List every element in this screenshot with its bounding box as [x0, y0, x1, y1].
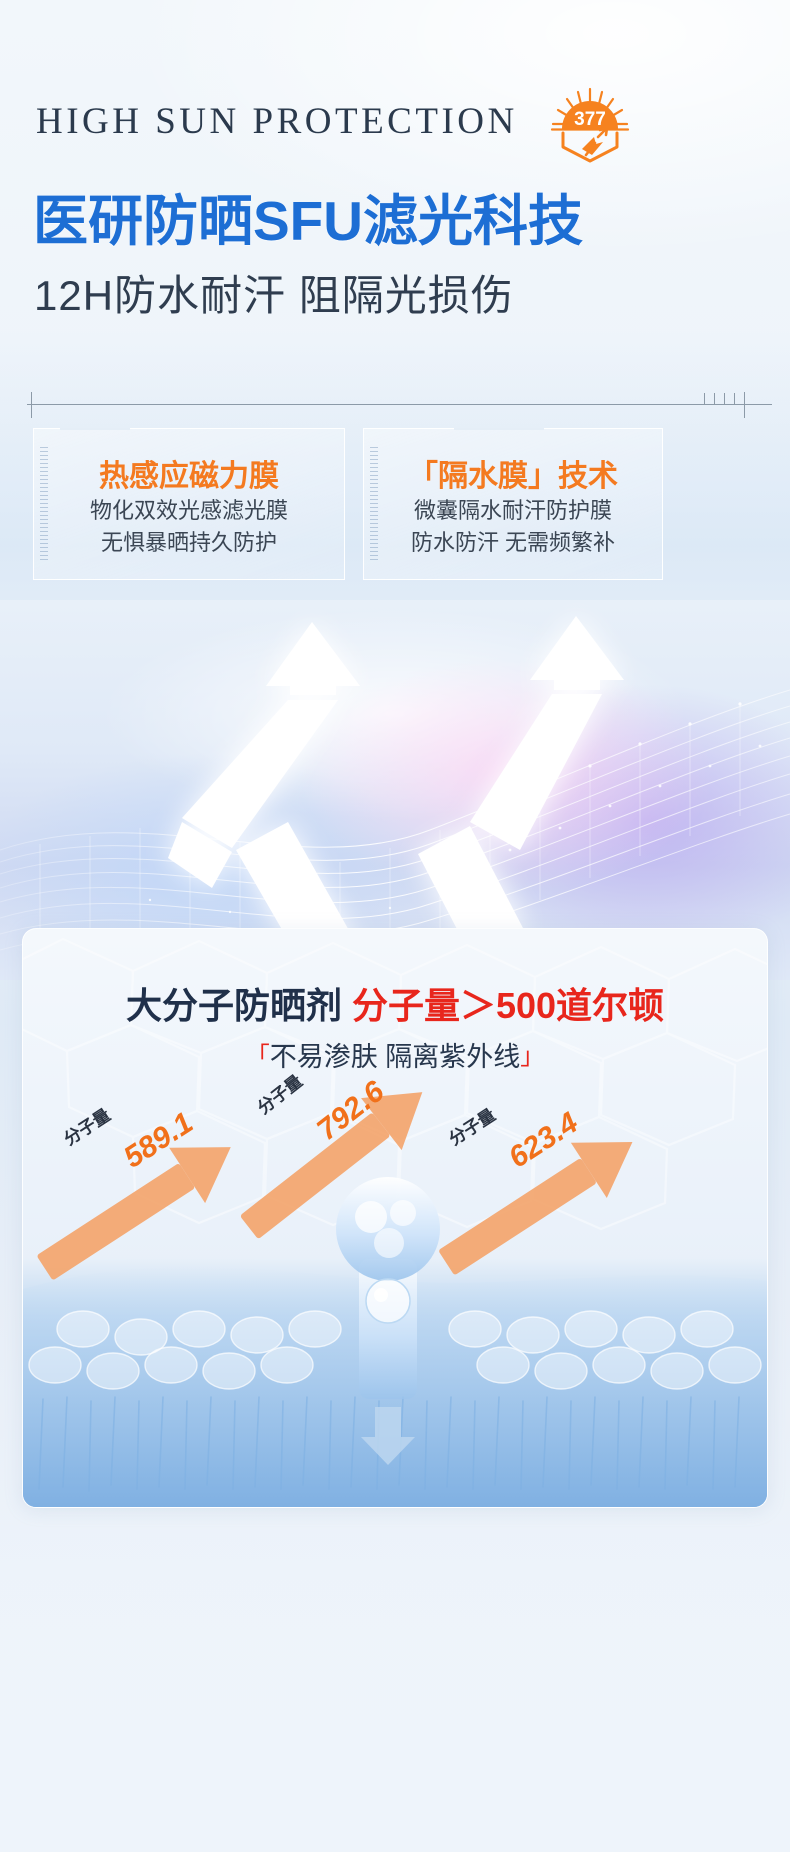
feature-card-line1: 物化双效光感滤光膜 — [34, 495, 344, 527]
badge-value-text: 377 — [574, 109, 606, 130]
sun-377-badge-icon: 377 — [548, 85, 632, 165]
feature-card-line2: 无惧暴晒持久防护 — [34, 527, 344, 559]
divider-tick-minor — [704, 393, 705, 405]
feature-card-water-barrier-film: 「隔水膜」技术 微囊隔水耐汗防护膜 防水防汗 无需频繁补 — [363, 428, 663, 580]
divider-line — [27, 404, 772, 405]
feature-card-title: 热感应磁力膜 — [34, 451, 344, 495]
divider-tick-minor — [734, 393, 735, 405]
page-eyebrow: HIGH SUN PROTECTION — [36, 100, 518, 143]
molecular-weight-arrows — [23, 929, 768, 1508]
molecule-card: 大分子防晒剂 分子量＞500道尔顿 「不易渗肤 隔离紫外线」 — [22, 928, 768, 1508]
feature-card-title: 「隔水膜」技术 — [364, 451, 662, 495]
page-subtitle: 12H防水耐汗 阻隔光损伤 — [34, 262, 514, 323]
white-arrow-icons — [0, 600, 790, 980]
divider-tick-end — [744, 392, 745, 418]
feature-card-thermal-magnetic-film: 热感应磁力膜 物化双效光感滤光膜 无惧暴晒持久防护 — [33, 428, 345, 580]
feature-card-line1: 微囊隔水耐汗防护膜 — [364, 495, 662, 527]
mesh-wave-graphic — [0, 600, 790, 980]
footer-fade — [0, 1522, 790, 1852]
product-detail-page: HIGH SUN PROTECTION 377 — [0, 0, 790, 1852]
feature-card-body: 物化双效光感滤光膜 无惧暴晒持久防护 — [34, 495, 344, 559]
divider-tick-minor — [714, 393, 715, 405]
feature-card-body: 微囊隔水耐汗防护膜 防水防汗 无需频繁补 — [364, 495, 662, 559]
header-section: HIGH SUN PROTECTION 377 — [0, 0, 790, 400]
divider-tick-minor — [724, 393, 725, 405]
page-title: 医研防晒SFU滤光科技 — [33, 176, 583, 256]
feature-card-line2: 防水防汗 无需频繁补 — [364, 527, 662, 559]
divider-tick-start — [31, 392, 32, 418]
feature-cards: 热感应磁力膜 物化双效光感滤光膜 无惧暴晒持久防护 「隔水膜」技术 微囊隔水耐汗… — [0, 428, 790, 588]
header-divider — [0, 388, 790, 420]
card-notch — [60, 428, 130, 430]
card-notch — [454, 428, 544, 430]
